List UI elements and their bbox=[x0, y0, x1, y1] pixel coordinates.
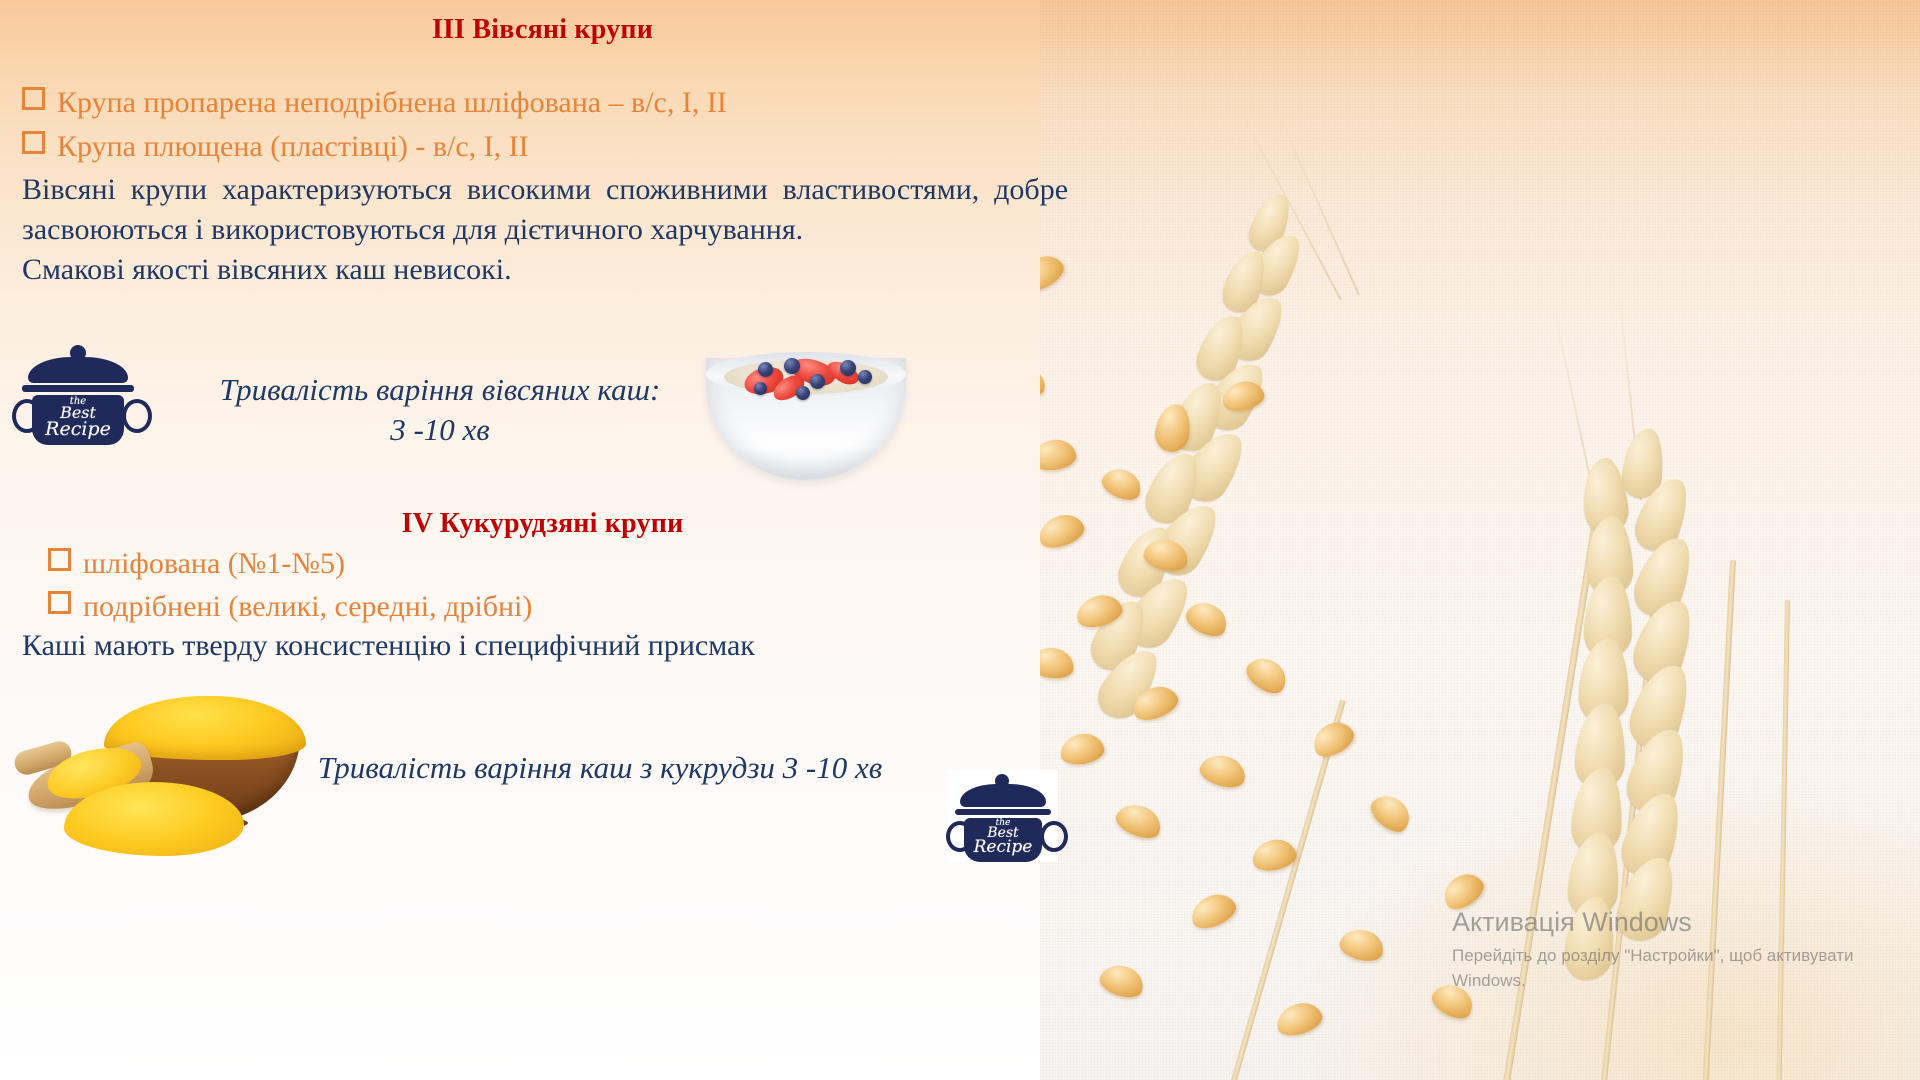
checkbox-bullet-icon bbox=[48, 548, 71, 571]
logo-text-recipe: Recipe bbox=[32, 420, 124, 439]
watermark-subtitle: Перейдіть до розділу "Настройки", щоб ак… bbox=[1452, 943, 1882, 993]
blueberry bbox=[758, 362, 773, 377]
list-item-label: Крупа плющена (пластівці) - в/с, I, II bbox=[57, 130, 529, 163]
corn-cooking-time-note: Тривалість варіння каш з кукрудзи 3 -10 … bbox=[250, 748, 950, 788]
pot-body-icon: the Best Recipe bbox=[32, 395, 124, 445]
corn-description-line: Каші мають тверду консистенцію і специфі… bbox=[22, 626, 1068, 666]
list-item: Крупа плющена (пластівці) - в/с, I, II bbox=[22, 130, 529, 164]
list-item: Крупа пропарена неподрібнена шліфована –… bbox=[22, 86, 727, 120]
list-item-label: Крупа пропарена неподрібнена шліфована –… bbox=[57, 86, 727, 119]
checkbox-bullet-icon bbox=[22, 131, 45, 154]
note-line-1: Тривалість варіння вівсяних каш: bbox=[150, 370, 730, 410]
pot-lid-bar-icon bbox=[955, 809, 1051, 815]
list-item-label: подрібнені (великі, середні, дрібні) bbox=[83, 590, 532, 623]
watermark-title: Активація Windows bbox=[1452, 905, 1882, 939]
page-title-corn: IV Кукурудзяні крупи bbox=[0, 508, 1085, 540]
blueberry bbox=[754, 382, 767, 395]
blueberry bbox=[784, 358, 800, 374]
pot-handle-right-icon bbox=[122, 399, 152, 433]
list-item-label: шліфована (№1-№5) bbox=[83, 547, 345, 580]
pot-handle-right-icon bbox=[1040, 821, 1068, 852]
oatmeal-bowl-photo bbox=[698, 330, 918, 490]
pot-body-icon: the Best Recipe bbox=[964, 818, 1042, 862]
checkbox-bullet-icon bbox=[48, 591, 71, 614]
paragraph-line: Смакові якості вівсяних каш невисокі. bbox=[22, 250, 1068, 290]
blueberry bbox=[796, 386, 810, 400]
blueberry bbox=[840, 360, 856, 376]
best-recipe-logo: the Best Recipe bbox=[948, 770, 1058, 862]
best-recipe-logo: the Best Recipe bbox=[18, 345, 138, 445]
oat-cooking-time-note: Тривалість варіння вівсяних каш: 3 -10 х… bbox=[150, 370, 730, 450]
note-line-2: 3 -10 хв bbox=[150, 410, 730, 450]
checkbox-bullet-icon bbox=[22, 87, 45, 110]
logo-text-recipe: Recipe bbox=[964, 839, 1042, 856]
list-item: шліфована (№1-№5) bbox=[48, 547, 345, 581]
pot-lid-icon bbox=[28, 357, 128, 383]
paragraph-line: Вівсяні крупи характеризуються високими … bbox=[22, 173, 979, 206]
pot-lid-bar-icon bbox=[22, 385, 134, 392]
page-title-oat: III Вівсяні крупи bbox=[0, 14, 1085, 46]
presentation-slide: III Вівсяні крупи Крупа пропарена неподр… bbox=[0, 0, 1920, 1080]
windows-activation-watermark: Активація Windows Перейдіть до розділу "… bbox=[1452, 905, 1882, 993]
list-item: подрібнені (великі, середні, дрібні) bbox=[48, 590, 532, 624]
pot-lid-icon bbox=[960, 784, 1046, 807]
oat-description-paragraph: Вівсяні крупи характеризуються високими … bbox=[22, 170, 1068, 290]
blueberry bbox=[858, 370, 872, 384]
blueberry bbox=[810, 374, 825, 389]
